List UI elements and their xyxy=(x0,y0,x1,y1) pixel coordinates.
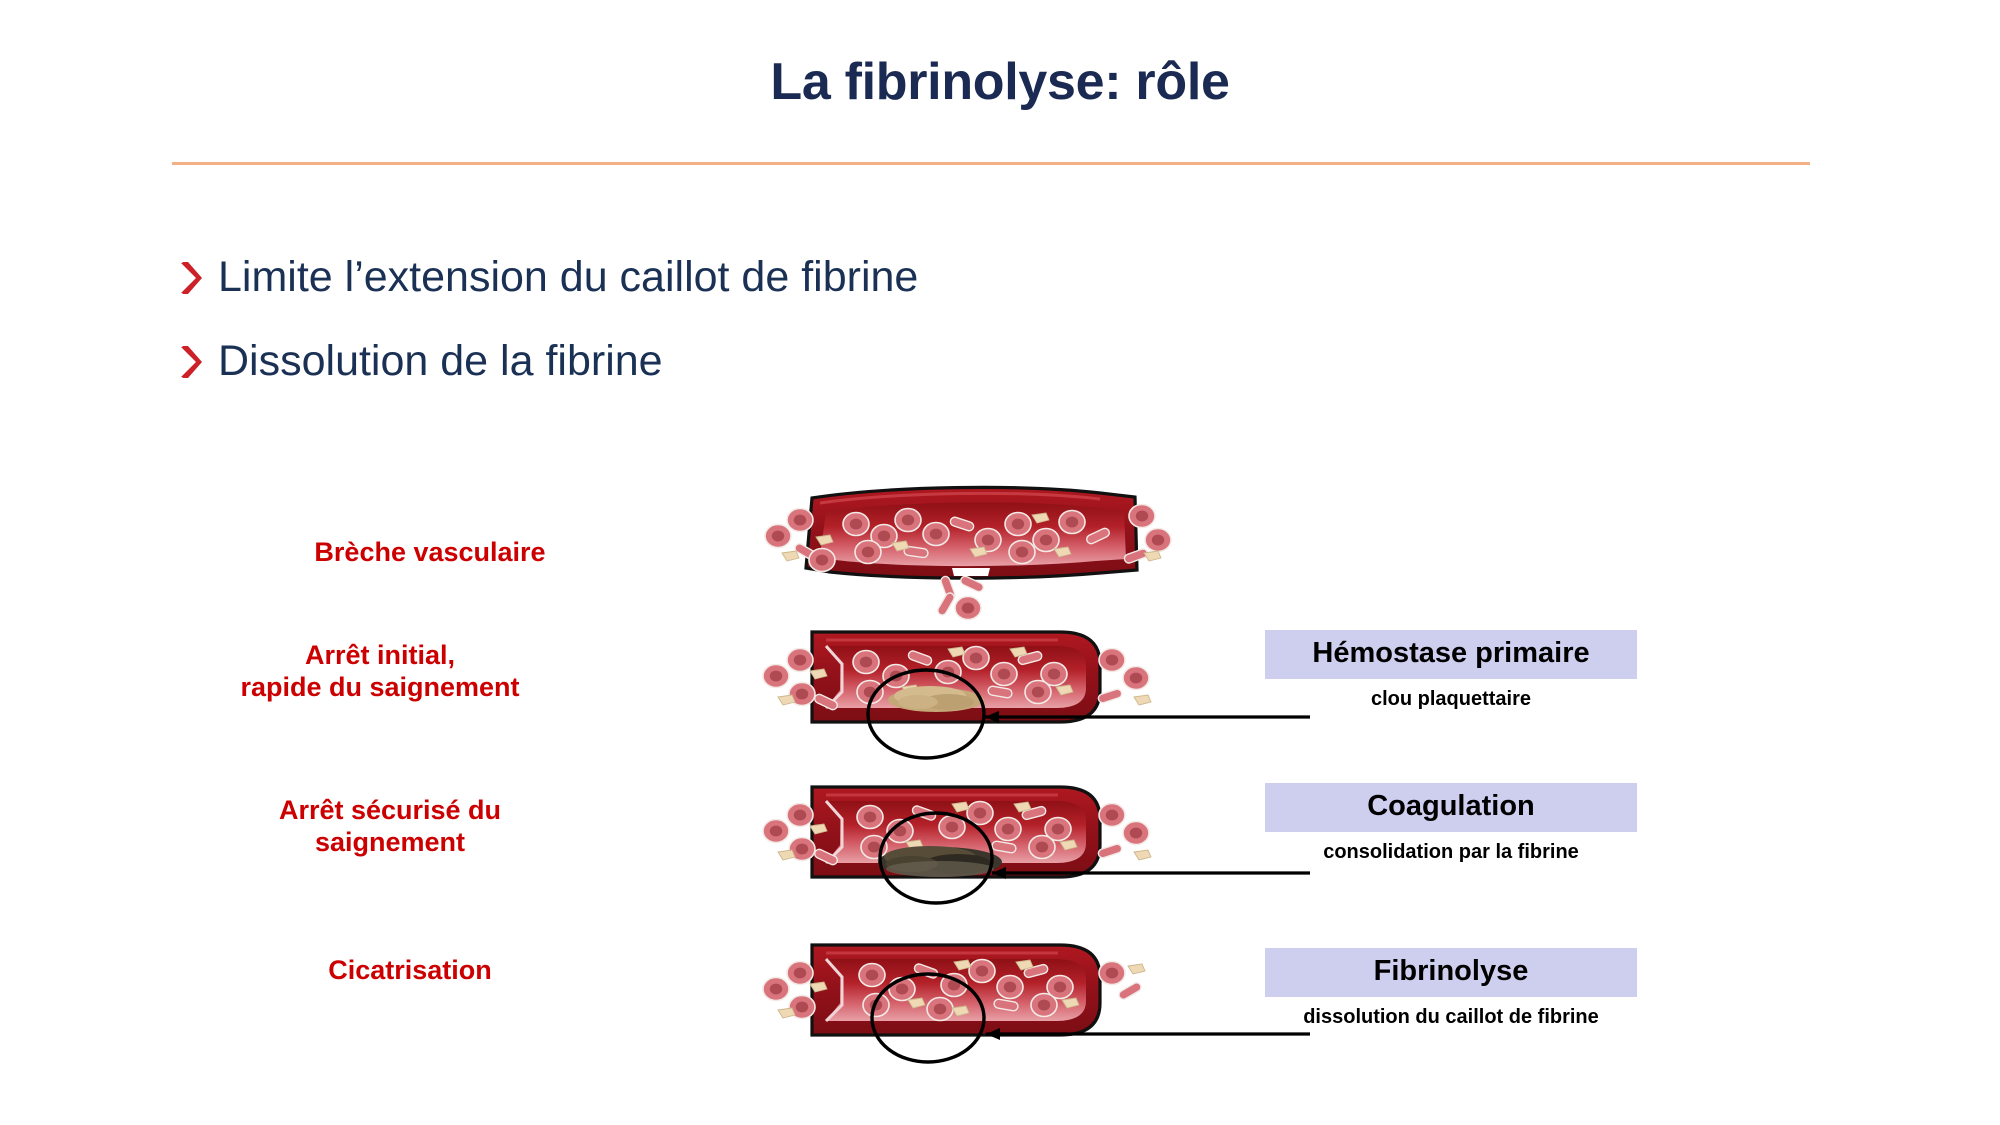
phase-caption: consolidation par la fibrine xyxy=(1265,841,1637,863)
bullet-item-label: Dissolution de la fibrine xyxy=(218,339,663,384)
blood-vessel-platelet-plug-illustration xyxy=(763,632,1310,758)
chevron-right-icon xyxy=(178,343,204,381)
chevron-right-icon xyxy=(178,259,204,297)
pointer-arrowhead xyxy=(985,711,999,723)
stage-label-breche-vasculaire: Brèche vasculaire xyxy=(230,537,630,569)
phase-block-coagulation: Coagulation consolidation par la fibrine xyxy=(1265,783,1637,863)
page-title: La fibrinolyse: rôle xyxy=(0,52,2000,112)
blood-vessel-fibrin-clot-illustration xyxy=(763,787,1310,903)
phase-block-hemostase-primaire: Hémostase primaire clou plaquettaire xyxy=(1265,630,1637,710)
pointer-arrowhead xyxy=(992,867,1006,879)
phase-block-fibrinolyse: Fibrinolyse dissolution du caillot de fi… xyxy=(1265,948,1637,1028)
stage-label-cicatrisation: Cicatrisation xyxy=(210,955,610,987)
highlight-circle-dissolved-clot xyxy=(872,974,984,1062)
phase-title: Coagulation xyxy=(1265,783,1637,832)
pointer-arrowhead xyxy=(986,1028,1000,1040)
phase-caption: clou plaquettaire xyxy=(1265,688,1637,710)
stage-label-arret-securise: Arrêt sécurisé du saignement xyxy=(190,795,590,859)
blood-vessel-healed-illustration xyxy=(763,945,1310,1062)
bullet-item: Limite l’extension du caillot de fibrine xyxy=(178,255,918,300)
bullet-item: Dissolution de la fibrine xyxy=(178,339,663,384)
highlight-circle-fibrin-clot xyxy=(880,813,992,903)
title-divider xyxy=(172,162,1810,165)
highlight-circle-platelet-plug xyxy=(868,670,984,758)
bullet-item-label: Limite l’extension du caillot de fibrine xyxy=(218,255,918,300)
stage-label-arret-initial: Arrêt initial, rapide du saignement xyxy=(180,640,580,704)
blood-vessel-breach-illustration xyxy=(765,487,1171,619)
phase-title: Fibrinolyse xyxy=(1265,948,1637,997)
phase-title: Hémostase primaire xyxy=(1265,630,1637,679)
phase-caption: dissolution du caillot de fibrine xyxy=(1265,1006,1637,1028)
